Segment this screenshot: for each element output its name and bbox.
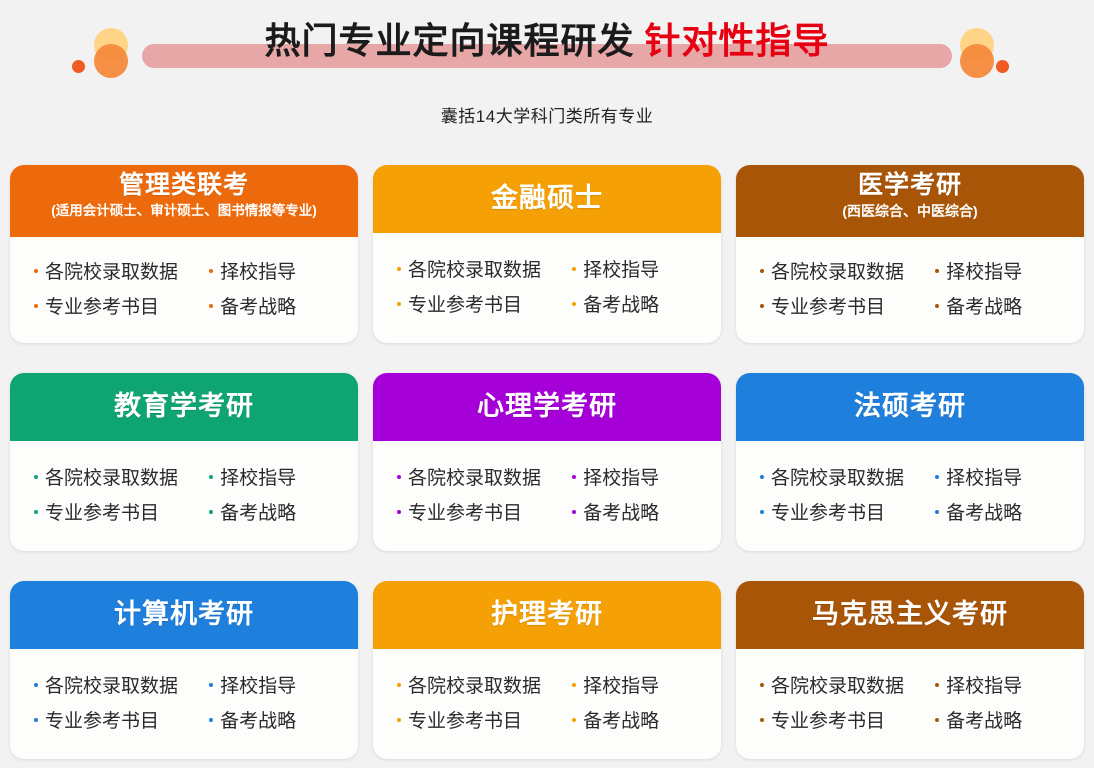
- program-card-header: 护理考研: [373, 581, 721, 649]
- bullet-dot-icon: [209, 510, 213, 514]
- program-feature-label: 专业参考书目: [771, 292, 885, 319]
- program-feature-item: 择校指导: [209, 671, 336, 698]
- bullet-dot-icon: [760, 475, 764, 479]
- program-feature-label: 专业参考书目: [45, 292, 159, 319]
- program-feature-label: 各院校录取数据: [45, 257, 178, 284]
- program-feature-label: 择校指导: [220, 671, 296, 698]
- bullet-dot-icon: [572, 302, 576, 306]
- program-feature-item: 备考战略: [209, 498, 336, 525]
- program-card-title: 计算机考研: [114, 600, 254, 630]
- bullet-dot-icon: [760, 304, 764, 308]
- program-feature-label: 专业参考书目: [45, 706, 159, 733]
- bullet-dot-icon: [209, 718, 213, 722]
- promo-page: 热门专业定向课程研发针对性指导 囊括14大学科门类所有专业 管理类联考(适用会计…: [0, 0, 1094, 768]
- program-feature-item: 备考战略: [572, 290, 699, 317]
- program-feature-label: 各院校录取数据: [45, 671, 178, 698]
- bullet-dot-icon: [935, 304, 939, 308]
- program-card-title: 管理类联考: [119, 172, 249, 200]
- program-card-features: 各院校录取数据择校指导专业参考书目备考战略: [373, 649, 721, 759]
- bullet-dot-icon: [34, 269, 38, 273]
- program-feature-item: 择校指导: [935, 671, 1062, 698]
- program-card-header: 医学考研(西医综合、中医综合): [736, 165, 1084, 237]
- program-feature-label: 专业参考书目: [771, 706, 885, 733]
- program-card-header: 心理学考研: [373, 373, 721, 441]
- program-feature-label: 择校指导: [946, 257, 1022, 284]
- program-feature-label: 择校指导: [946, 671, 1022, 698]
- bullet-dot-icon: [397, 718, 401, 722]
- page-subtitle: 囊括14大学科门类所有专业: [0, 102, 1094, 127]
- bullet-dot-icon: [397, 475, 401, 479]
- bullet-dot-icon: [572, 267, 576, 271]
- program-card[interactable]: 马克思主义考研各院校录取数据择校指导专业参考书目备考战略: [736, 581, 1084, 759]
- circle-deep-icon: [94, 44, 128, 78]
- program-card[interactable]: 管理类联考(适用会计硕士、审计硕士、图书情报等专业)各院校录取数据择校指导专业参…: [10, 165, 358, 343]
- program-feature-item: 各院校录取数据: [760, 671, 935, 698]
- program-feature-item: 专业参考书目: [760, 292, 935, 319]
- decoration-right: [942, 24, 1022, 88]
- bullet-dot-icon: [760, 510, 764, 514]
- program-feature-label: 各院校录取数据: [771, 463, 904, 490]
- bullet-dot-icon: [760, 683, 764, 687]
- program-card-features: 各院校录取数据择校指导专业参考书目备考战略: [10, 649, 358, 759]
- circle-dot-icon: [996, 60, 1009, 73]
- program-feature-item: 专业参考书目: [397, 290, 572, 317]
- page-title-main: 热门专业定向课程研发: [264, 20, 634, 61]
- bullet-dot-icon: [935, 475, 939, 479]
- program-feature-item: 备考战略: [209, 292, 336, 319]
- program-feature-item: 各院校录取数据: [397, 255, 572, 282]
- bullet-dot-icon: [935, 269, 939, 273]
- program-feature-item: 备考战略: [935, 498, 1062, 525]
- bullet-dot-icon: [34, 718, 38, 722]
- program-feature-item: 备考战略: [209, 706, 336, 733]
- program-feature-item: 备考战略: [572, 498, 699, 525]
- bullet-dot-icon: [209, 269, 213, 273]
- bullet-dot-icon: [935, 510, 939, 514]
- program-feature-label: 备考战略: [583, 498, 659, 525]
- program-feature-label: 择校指导: [220, 257, 296, 284]
- decoration-left: [72, 24, 152, 88]
- bullet-dot-icon: [209, 304, 213, 308]
- program-feature-item: 专业参考书目: [760, 498, 935, 525]
- program-feature-label: 备考战略: [946, 706, 1022, 733]
- bullet-dot-icon: [209, 683, 213, 687]
- program-card-grid: 管理类联考(适用会计硕士、审计硕士、图书情报等专业)各院校录取数据择校指导专业参…: [10, 165, 1084, 759]
- page-title: 热门专业定向课程研发针对性指导: [264, 23, 829, 65]
- program-feature-label: 各院校录取数据: [408, 671, 541, 698]
- program-card-features: 各院校录取数据择校指导专业参考书目备考战略: [736, 441, 1084, 551]
- bullet-dot-icon: [34, 475, 38, 479]
- bullet-dot-icon: [935, 718, 939, 722]
- program-card-header: 教育学考研: [10, 373, 358, 441]
- program-feature-label: 择校指导: [946, 463, 1022, 490]
- program-card-title: 护理考研: [491, 600, 603, 630]
- program-feature-label: 择校指导: [583, 255, 659, 282]
- program-card-header: 马克思主义考研: [736, 581, 1084, 649]
- program-feature-label: 择校指导: [583, 463, 659, 490]
- program-feature-item: 专业参考书目: [34, 292, 209, 319]
- program-feature-label: 备考战略: [220, 706, 296, 733]
- circle-deep-icon: [960, 44, 994, 78]
- program-feature-label: 专业参考书目: [408, 290, 522, 317]
- program-card[interactable]: 医学考研(西医综合、中医综合)各院校录取数据择校指导专业参考书目备考战略: [736, 165, 1084, 343]
- program-feature-label: 备考战略: [583, 706, 659, 733]
- program-feature-item: 备考战略: [935, 706, 1062, 733]
- program-feature-label: 择校指导: [220, 463, 296, 490]
- bullet-dot-icon: [572, 475, 576, 479]
- program-card-header: 金融硕士: [373, 165, 721, 233]
- program-card-subtitle: (西医综合、中医综合): [842, 203, 977, 220]
- program-card[interactable]: 教育学考研各院校录取数据择校指导专业参考书目备考战略: [10, 373, 358, 551]
- program-feature-label: 各院校录取数据: [408, 255, 541, 282]
- bullet-dot-icon: [397, 510, 401, 514]
- program-feature-item: 专业参考书目: [397, 706, 572, 733]
- bullet-dot-icon: [572, 510, 576, 514]
- program-card-features: 各院校录取数据择校指导专业参考书目备考战略: [736, 649, 1084, 759]
- circle-dot-icon: [72, 60, 85, 73]
- bullet-dot-icon: [572, 718, 576, 722]
- program-feature-label: 专业参考书目: [408, 706, 522, 733]
- bullet-dot-icon: [760, 269, 764, 273]
- program-card-features: 各院校录取数据择校指导专业参考书目备考战略: [10, 237, 358, 343]
- program-feature-label: 各院校录取数据: [771, 257, 904, 284]
- program-card[interactable]: 法硕考研各院校录取数据择校指导专业参考书目备考战略: [736, 373, 1084, 551]
- program-card[interactable]: 计算机考研各院校录取数据择校指导专业参考书目备考战略: [10, 581, 358, 759]
- page-header: 热门专业定向课程研发针对性指导 囊括14大学科门类所有专业: [0, 0, 1094, 148]
- program-feature-item: 专业参考书目: [397, 498, 572, 525]
- bullet-dot-icon: [34, 510, 38, 514]
- program-feature-item: 备考战略: [935, 292, 1062, 319]
- bullet-dot-icon: [209, 475, 213, 479]
- program-feature-item: 各院校录取数据: [34, 671, 209, 698]
- program-card-title: 医学考研: [858, 172, 962, 200]
- bullet-dot-icon: [760, 718, 764, 722]
- program-feature-label: 择校指导: [583, 671, 659, 698]
- program-feature-item: 择校指导: [935, 463, 1062, 490]
- title-row: 热门专业定向课程研发针对性指导: [0, 0, 1094, 88]
- program-feature-item: 择校指导: [935, 257, 1062, 284]
- program-feature-label: 专业参考书目: [45, 498, 159, 525]
- program-card-title: 心理学考研: [477, 392, 617, 422]
- program-feature-item: 择校指导: [572, 255, 699, 282]
- program-card-title: 教育学考研: [114, 392, 254, 422]
- program-feature-item: 专业参考书目: [34, 706, 209, 733]
- program-card-subtitle: (适用会计硕士、审计硕士、图书情报等专业): [51, 203, 317, 219]
- program-feature-label: 备考战略: [220, 292, 296, 319]
- bullet-dot-icon: [397, 302, 401, 306]
- program-card-features: 各院校录取数据择校指导专业参考书目备考战略: [10, 441, 358, 551]
- program-card-title: 马克思主义考研: [812, 600, 1008, 630]
- program-feature-item: 各院校录取数据: [760, 257, 935, 284]
- program-card-title: 金融硕士: [491, 184, 603, 214]
- program-feature-label: 备考战略: [583, 290, 659, 317]
- program-feature-item: 专业参考书目: [34, 498, 209, 525]
- bullet-dot-icon: [935, 683, 939, 687]
- program-feature-label: 各院校录取数据: [45, 463, 178, 490]
- program-feature-item: 择校指导: [572, 671, 699, 698]
- program-card-features: 各院校录取数据择校指导专业参考书目备考战略: [736, 237, 1084, 343]
- program-feature-item: 各院校录取数据: [397, 463, 572, 490]
- program-feature-item: 备考战略: [572, 706, 699, 733]
- program-feature-item: 择校指导: [209, 463, 336, 490]
- page-title-accent: 针对性指导: [645, 20, 830, 61]
- program-feature-label: 专业参考书目: [408, 498, 522, 525]
- program-feature-label: 专业参考书目: [771, 498, 885, 525]
- program-card-header: 管理类联考(适用会计硕士、审计硕士、图书情报等专业): [10, 165, 358, 237]
- program-feature-label: 备考战略: [220, 498, 296, 525]
- program-card-title: 法硕考研: [854, 392, 966, 422]
- program-feature-item: 各院校录取数据: [760, 463, 935, 490]
- program-card-features: 各院校录取数据择校指导专业参考书目备考战略: [373, 233, 721, 343]
- bullet-dot-icon: [572, 683, 576, 687]
- program-feature-item: 各院校录取数据: [397, 671, 572, 698]
- bullet-dot-icon: [397, 267, 401, 271]
- program-card-features: 各院校录取数据择校指导专业参考书目备考战略: [373, 441, 721, 551]
- program-feature-item: 各院校录取数据: [34, 257, 209, 284]
- bullet-dot-icon: [34, 304, 38, 308]
- program-feature-item: 专业参考书目: [760, 706, 935, 733]
- bullet-dot-icon: [34, 683, 38, 687]
- program-card[interactable]: 金融硕士各院校录取数据择校指导专业参考书目备考战略: [373, 165, 721, 343]
- program-feature-label: 各院校录取数据: [408, 463, 541, 490]
- program-feature-item: 择校指导: [209, 257, 336, 284]
- program-feature-label: 各院校录取数据: [771, 671, 904, 698]
- program-card[interactable]: 护理考研各院校录取数据择校指导专业参考书目备考战略: [373, 581, 721, 759]
- program-card[interactable]: 心理学考研各院校录取数据择校指导专业参考书目备考战略: [373, 373, 721, 551]
- program-feature-label: 备考战略: [946, 498, 1022, 525]
- program-feature-label: 备考战略: [946, 292, 1022, 319]
- program-card-header: 法硕考研: [736, 373, 1084, 441]
- program-feature-item: 择校指导: [572, 463, 699, 490]
- bullet-dot-icon: [397, 683, 401, 687]
- program-feature-item: 各院校录取数据: [34, 463, 209, 490]
- program-card-header: 计算机考研: [10, 581, 358, 649]
